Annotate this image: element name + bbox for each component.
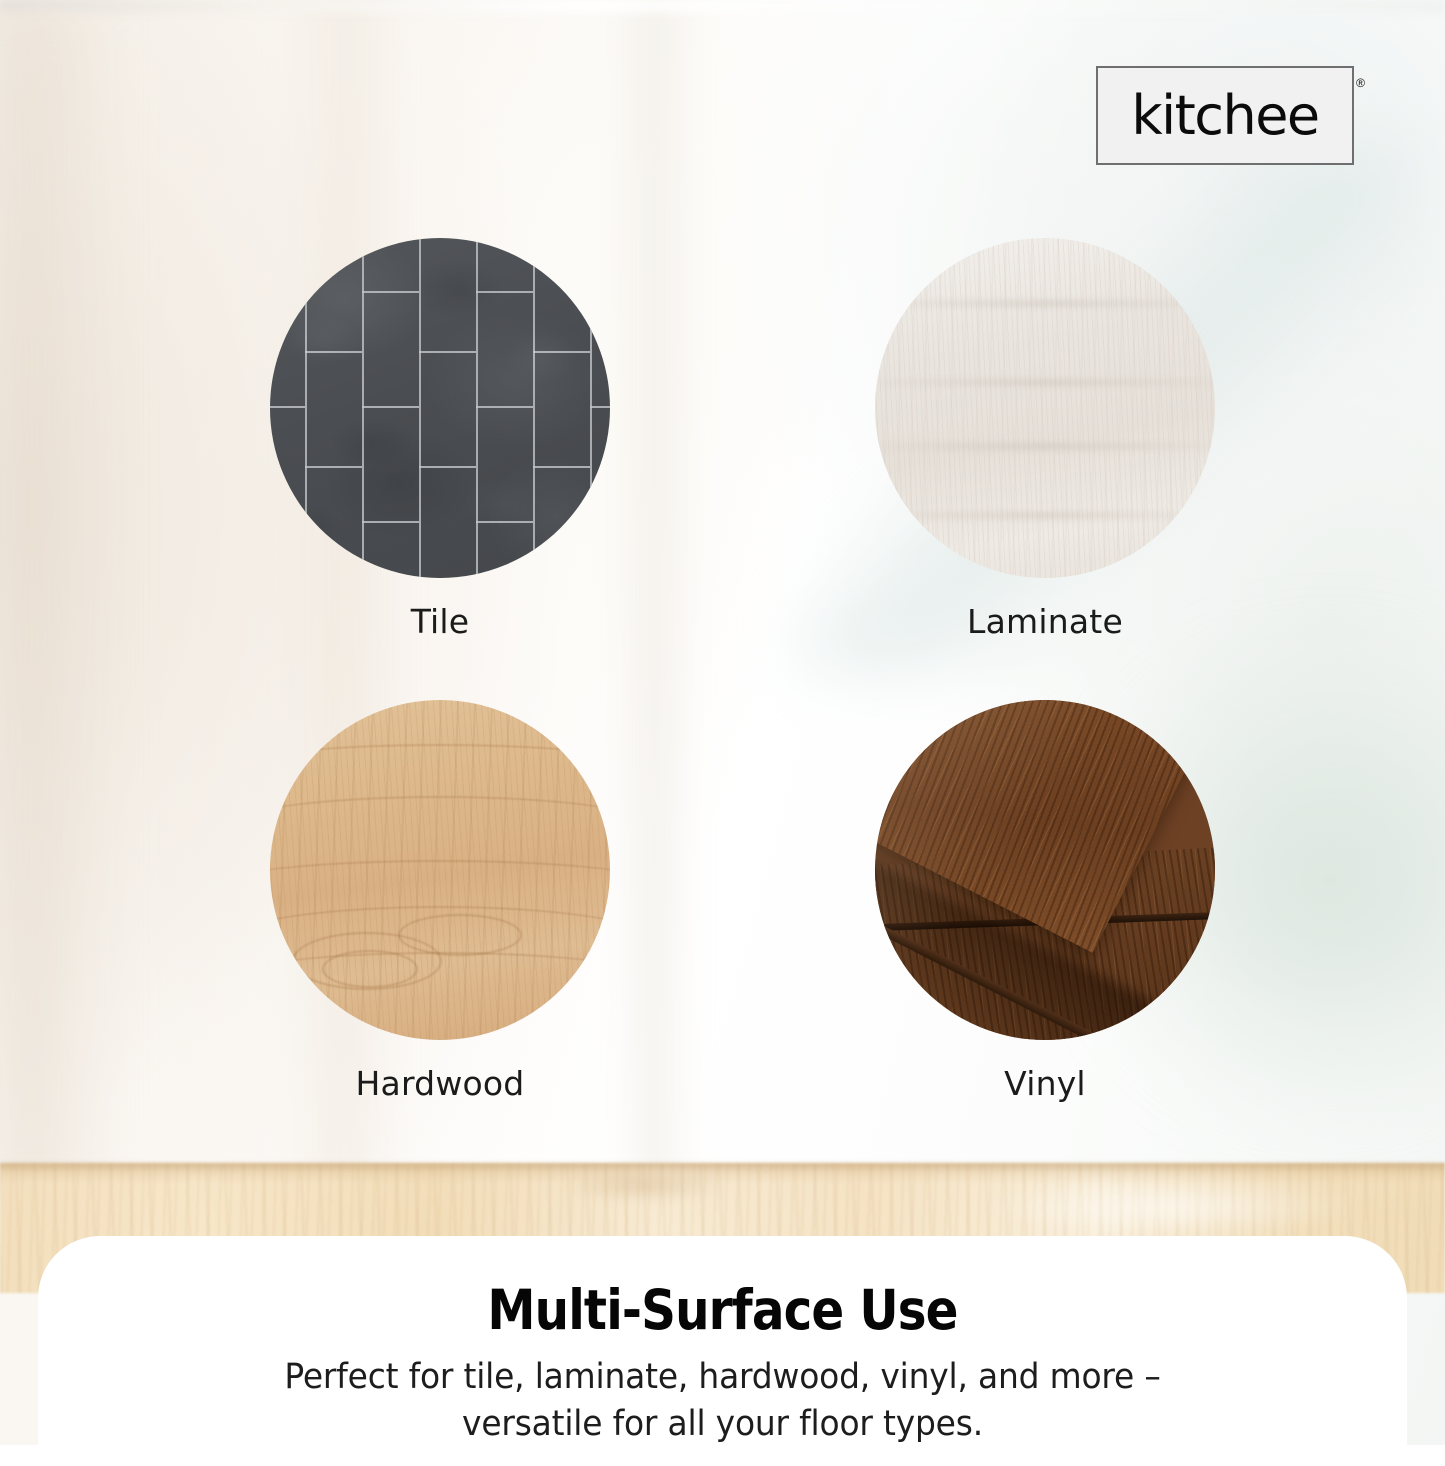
swatch-label-hardwood: Hardwood xyxy=(195,1064,685,1103)
counter-highlight xyxy=(980,1176,1360,1238)
vinyl-swatch-icon xyxy=(875,700,1215,1040)
laminate-swatch-icon xyxy=(875,238,1215,578)
footer-subtitle-line-2: versatile for all your floor types. xyxy=(43,1401,1401,1448)
footer-copy: Multi-Surface Use Perfect for tile, lami… xyxy=(0,1278,1445,1448)
swatch-item-hardwood: Hardwood xyxy=(195,700,685,1103)
surface-swatch-grid: Tile Laminate Hardwood xyxy=(0,0,1445,1160)
hardwood-swatch-icon xyxy=(270,700,610,1040)
swatch-label-laminate: Laminate xyxy=(800,602,1290,641)
swatch-item-laminate: Laminate xyxy=(800,238,1290,641)
swatch-item-vinyl: Vinyl xyxy=(800,700,1290,1103)
counter-grain-knot xyxy=(560,1168,730,1202)
footer-subtitle-line-1: Perfect for tile, laminate, hardwood, vi… xyxy=(43,1354,1401,1401)
swatch-label-tile: Tile xyxy=(195,602,685,641)
swatch-item-tile: Tile xyxy=(195,238,685,641)
footer-subtitle: Perfect for tile, laminate, hardwood, vi… xyxy=(43,1354,1401,1448)
tile-swatch-icon xyxy=(270,238,610,578)
swatch-label-vinyl: Vinyl xyxy=(800,1064,1290,1103)
page-title: Multi-Surface Use xyxy=(87,1278,1359,1342)
